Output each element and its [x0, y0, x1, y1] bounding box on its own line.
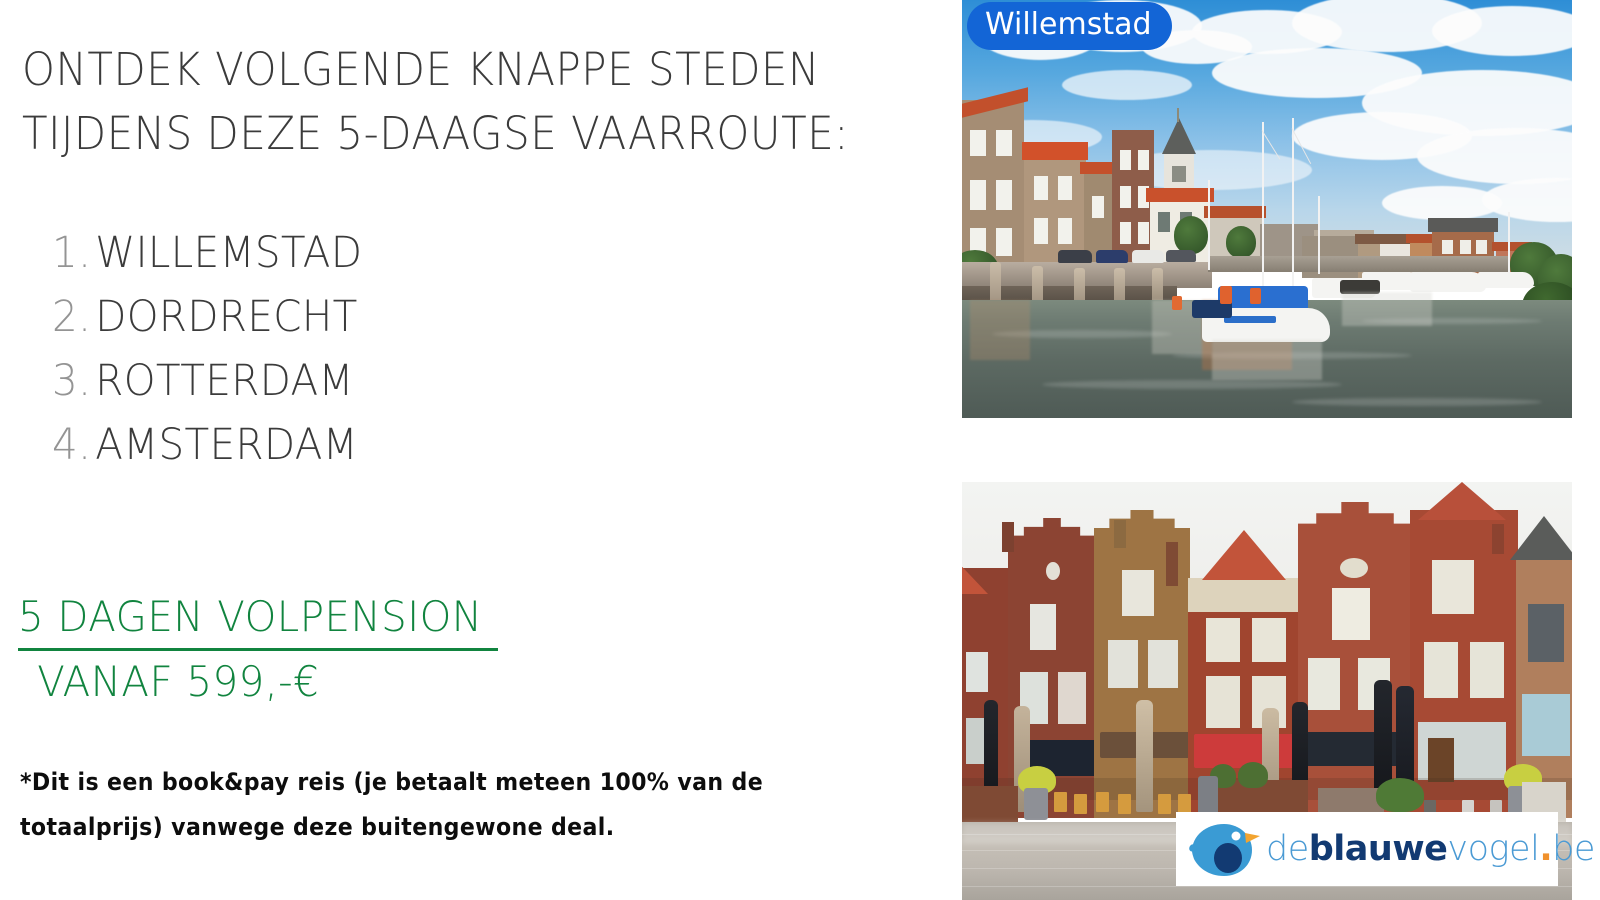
ornament: [1340, 558, 1368, 578]
figure: [1172, 296, 1182, 310]
window: [1122, 570, 1154, 616]
window: [1058, 176, 1072, 200]
chimney: [1492, 524, 1504, 554]
footnote-text: *Dit is een book&pay reis (je betaalt me…: [20, 760, 830, 850]
window: [1206, 676, 1240, 728]
chair: [1096, 792, 1109, 812]
logo-text-dot: .: [1539, 829, 1552, 869]
window: [1432, 560, 1474, 614]
roof: [1146, 188, 1214, 202]
left-content-column: ONTDEK VOLGENDE KNAPPE STEDEN TIJDENS DE…: [0, 0, 950, 900]
window: [970, 130, 986, 156]
list-item: 4. AMSTERDAM: [52, 420, 362, 484]
chimney: [1166, 542, 1178, 586]
chair: [1074, 794, 1087, 814]
list-item-number: 4.: [52, 420, 95, 470]
window: [1058, 218, 1072, 244]
brand-logo-text: deblauwevogel.be: [1266, 829, 1595, 869]
window: [1252, 618, 1286, 662]
window: [1120, 186, 1131, 208]
sailboat-mast: [1292, 118, 1294, 290]
page-title: ONTDEK VOLGENDE KNAPPE STEDEN TIJDENS DE…: [22, 38, 859, 166]
list-item-number: 2.: [52, 292, 95, 342]
logo-text-blauwe: blauwe: [1309, 829, 1448, 869]
window: [1528, 604, 1564, 662]
window: [1308, 658, 1340, 710]
logo-text-de: de: [1266, 829, 1309, 869]
window: [996, 130, 1012, 156]
shop-window: [1522, 694, 1570, 756]
list-item: 2. DORDRECHT: [52, 292, 362, 356]
chimney: [1114, 520, 1126, 548]
window: [1460, 240, 1471, 254]
list-item-label: ROTTERDAM: [95, 356, 354, 406]
window: [1034, 218, 1048, 244]
boat-hull: [1410, 272, 1486, 292]
right-photo-column: Willemstad: [960, 0, 1600, 900]
car: [1058, 250, 1092, 263]
list-item-label: DORDRECHT: [95, 292, 357, 342]
cloud-shape: [1062, 70, 1192, 100]
paving-line: [962, 886, 1572, 887]
reflection: [970, 300, 1030, 360]
window: [996, 228, 1012, 256]
window: [1332, 588, 1370, 640]
roof: [1204, 206, 1266, 218]
door: [1428, 738, 1454, 782]
chair: [1054, 792, 1067, 812]
gable-roof: [962, 554, 988, 594]
sailboat-mast: [1208, 180, 1210, 270]
offer-headline: 5 DAGEN VOLPENSION: [18, 588, 498, 651]
planter-box: [962, 786, 1018, 824]
chair: [1118, 794, 1131, 814]
price-value: VANAF 599,-€: [18, 651, 498, 713]
spire-finial: [1177, 108, 1179, 122]
roof: [1022, 142, 1088, 160]
roof: [1355, 234, 1413, 244]
window: [966, 652, 988, 692]
gable-roof: [1418, 482, 1506, 520]
hull-stripe: [1224, 316, 1276, 323]
window: [1120, 150, 1131, 170]
window: [1148, 640, 1178, 688]
brand-logo[interactable]: deblauwevogel.be: [1176, 812, 1558, 886]
window: [1108, 640, 1138, 688]
window: [970, 180, 986, 210]
boat-reflection: [1342, 292, 1432, 326]
water-shimmer: [1042, 380, 1342, 389]
boat-hull: [1478, 272, 1534, 288]
list-item-label: WILLEMSTAD: [95, 228, 362, 278]
list-item: 1. WILLEMSTAD: [52, 228, 362, 292]
chair: [1178, 794, 1191, 814]
price-block: 5 DAGEN VOLPENSION VANAF 599,-€: [18, 588, 518, 713]
list-item-label: AMSTERDAM: [95, 420, 358, 470]
logo-text-vogel: vogel: [1447, 829, 1539, 869]
window: [1058, 672, 1086, 724]
umbrella-closed: [1136, 700, 1153, 812]
window: [1206, 618, 1240, 662]
window: [1120, 222, 1131, 244]
window: [1138, 150, 1149, 170]
palm-shrub: [1376, 778, 1424, 812]
window: [1034, 176, 1048, 200]
window: [1470, 642, 1504, 698]
window: [1158, 212, 1170, 232]
awning-dark: [1302, 732, 1408, 766]
gable-roof: [1510, 516, 1572, 560]
window: [1424, 642, 1458, 698]
slide-canvas: ONTDEK VOLGENDE KNAPPE STEDEN TIJDENS DE…: [0, 0, 1600, 900]
window: [1476, 240, 1487, 254]
sailboat-mast: [1318, 196, 1320, 274]
shrub: [1238, 762, 1268, 788]
logo-text-be: be: [1552, 829, 1595, 869]
tower-spire: [1162, 118, 1196, 154]
tower-window: [1172, 166, 1186, 182]
sailboat-mast: [1508, 212, 1510, 274]
water-shimmer: [1292, 398, 1542, 406]
car: [1132, 250, 1164, 263]
window: [1092, 196, 1104, 218]
window: [1138, 222, 1149, 244]
list-item: 3. ROTTERDAM: [52, 356, 362, 420]
planter-pot: [1024, 788, 1048, 820]
car: [1096, 250, 1128, 263]
photo-caption-willemstad: Willemstad: [967, 2, 1172, 50]
car: [1166, 250, 1196, 262]
window: [996, 180, 1012, 210]
quay-far: [1208, 256, 1508, 272]
figure: [1250, 288, 1261, 304]
blue-bird-icon: [1188, 817, 1262, 881]
city-list: 1. WILLEMSTAD 2. DORDRECHT 3. ROTTERDAM …: [52, 228, 382, 484]
gable-roof: [1202, 530, 1286, 580]
roof: [1428, 218, 1498, 232]
cloud-shape: [1382, 186, 1502, 220]
oculus-window: [1046, 562, 1060, 580]
sailboat-mast: [1262, 122, 1264, 292]
boat-reflection: [1212, 340, 1322, 380]
photo-willemstad: Willemstad: [962, 0, 1572, 418]
tree: [1174, 216, 1208, 254]
list-item-number: 1.: [52, 228, 95, 278]
cornice: [1188, 578, 1300, 612]
window: [1030, 604, 1056, 650]
window: [1442, 240, 1453, 254]
chimney: [1002, 522, 1014, 552]
figure: [1220, 286, 1232, 304]
tree: [1226, 226, 1256, 258]
list-item-number: 3.: [52, 356, 95, 406]
chair: [1158, 794, 1171, 814]
